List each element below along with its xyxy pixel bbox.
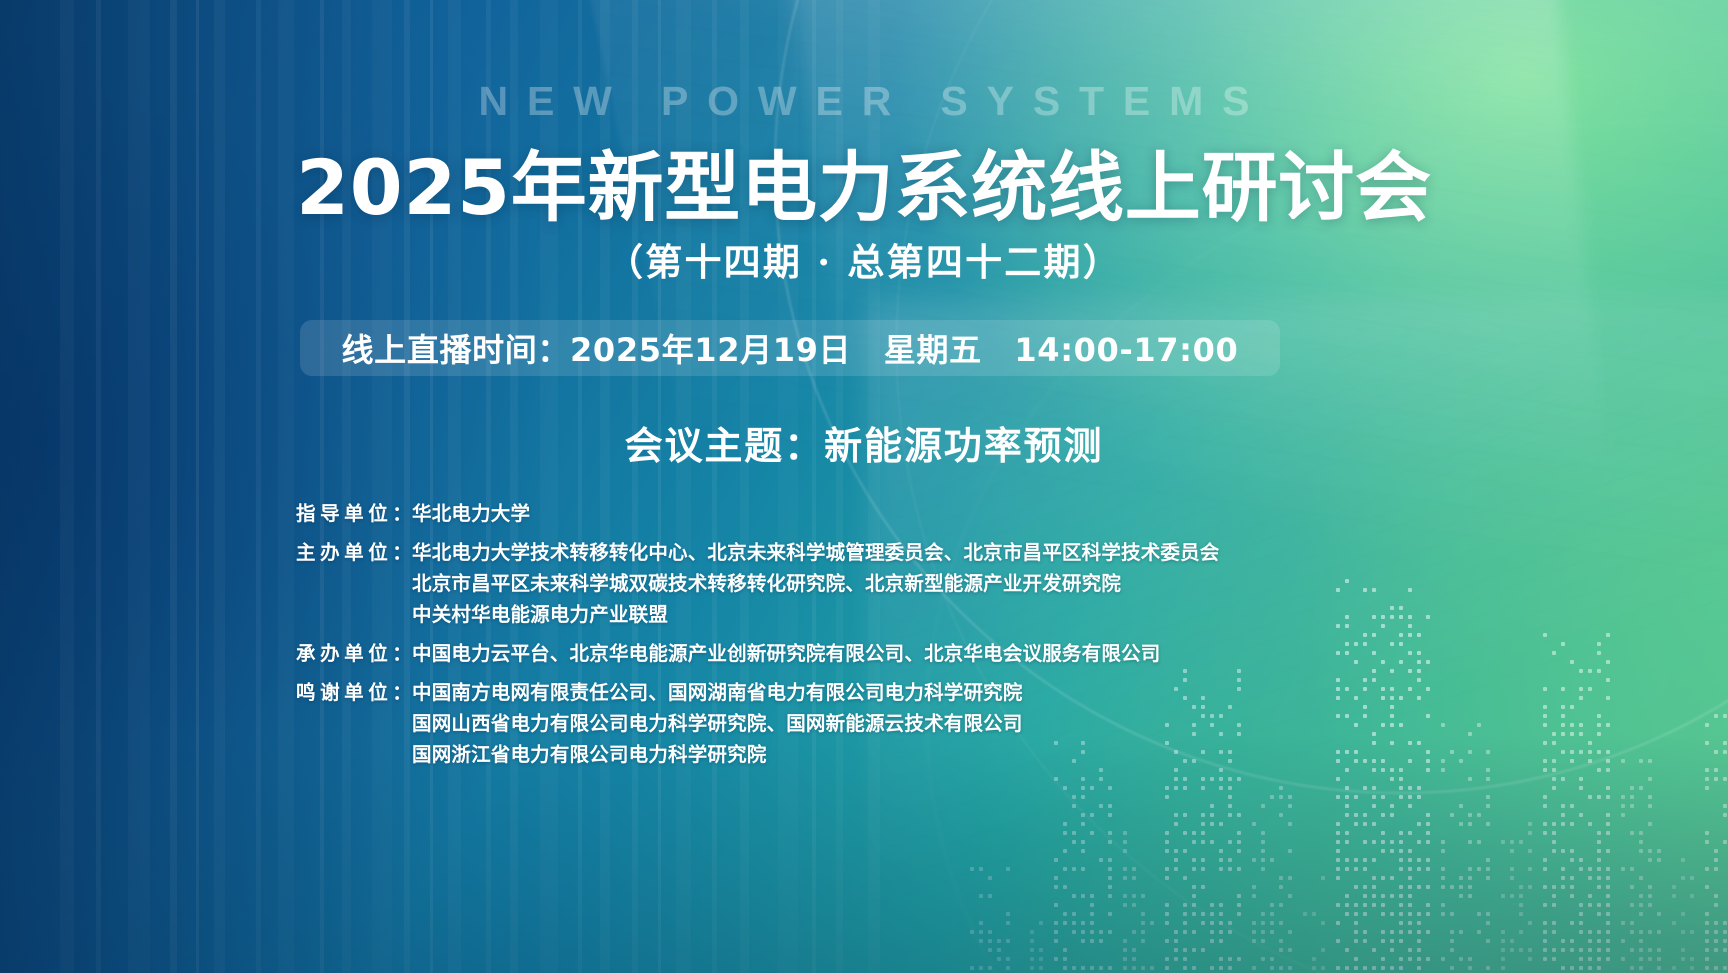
page-title: 2025年新型电力系统线上研讨会 <box>0 126 1728 236</box>
organizer-label: 指导单位： <box>296 498 412 529</box>
organizer-value: 中国电力云平台、北京华电能源产业创新研究院有限公司、北京华电会议服务有限公司 <box>412 638 1336 669</box>
organizer-row: 鸣谢单位：国网山西省电力有限公司电力科学研究院、国网新能源云技术有限公司 <box>296 708 1336 739</box>
organizer-label: 鸣谢单位： <box>296 677 412 708</box>
organizer-label: 承办单位： <box>296 638 412 669</box>
organizer-value: 北京市昌平区未来科学城双碳技术转移转化研究院、北京新型能源产业开发研究院 <box>412 568 1336 599</box>
kicker-text: NEW POWER SYSTEMS <box>0 78 1728 125</box>
live-time-text: 线上直播时间：2025年12月19日 星期五 14:00-17:00 <box>342 325 1239 371</box>
organizer-list: 指导单位：华北电力大学主办单位：华北电力大学技术转移转化中心、北京未来科学城管理… <box>296 498 1336 770</box>
organizer-value: 国网山西省电力有限公司电力科学研究院、国网新能源云技术有限公司 <box>412 708 1336 739</box>
organizer-row: 指导单位：华北电力大学 <box>296 498 1336 529</box>
organizer-row: 主办单位：中关村华电能源电力产业联盟 <box>296 599 1336 630</box>
organizer-row: 鸣谢单位：中国南方电网有限责任公司、国网湖南省电力有限公司电力科学研究院 <box>296 677 1336 708</box>
organizer-value: 华北电力大学技术转移转化中心、北京未来科学城管理委员会、北京市昌平区科学技术委员… <box>412 537 1336 568</box>
organizer-value: 中关村华电能源电力产业联盟 <box>412 599 1336 630</box>
organizer-gap <box>296 630 1336 638</box>
organizer-row: 主办单位：北京市昌平区未来科学城双碳技术转移转化研究院、北京新型能源产业开发研究… <box>296 568 1336 599</box>
organizer-value: 中国南方电网有限责任公司、国网湖南省电力有限公司电力科学研究院 <box>412 677 1336 708</box>
webinar-poster: NEW POWER SYSTEMS 2025年新型电力系统线上研讨会 （第十四期… <box>0 0 1728 973</box>
organizer-row: 承办单位：中国电力云平台、北京华电能源产业创新研究院有限公司、北京华电会议服务有… <box>296 638 1336 669</box>
organizer-gap <box>296 529 1336 537</box>
poster-content: NEW POWER SYSTEMS 2025年新型电力系统线上研讨会 （第十四期… <box>0 0 1728 973</box>
organizer-row: 主办单位：华北电力大学技术转移转化中心、北京未来科学城管理委员会、北京市昌平区科… <box>296 537 1336 568</box>
organizer-gap <box>296 669 1336 677</box>
organizer-value: 国网浙江省电力有限公司电力科学研究院 <box>412 739 1336 770</box>
organizer-value: 华北电力大学 <box>412 498 1336 529</box>
page-subtitle: （第十四期 · 总第四十二期） <box>0 232 1728 286</box>
live-time-banner: 线上直播时间：2025年12月19日 星期五 14:00-17:00 <box>300 320 1280 376</box>
conference-theme: 会议主题：新能源功率预测 <box>0 415 1728 470</box>
organizer-row: 鸣谢单位：国网浙江省电力有限公司电力科学研究院 <box>296 739 1336 770</box>
organizer-label: 主办单位： <box>296 537 412 568</box>
